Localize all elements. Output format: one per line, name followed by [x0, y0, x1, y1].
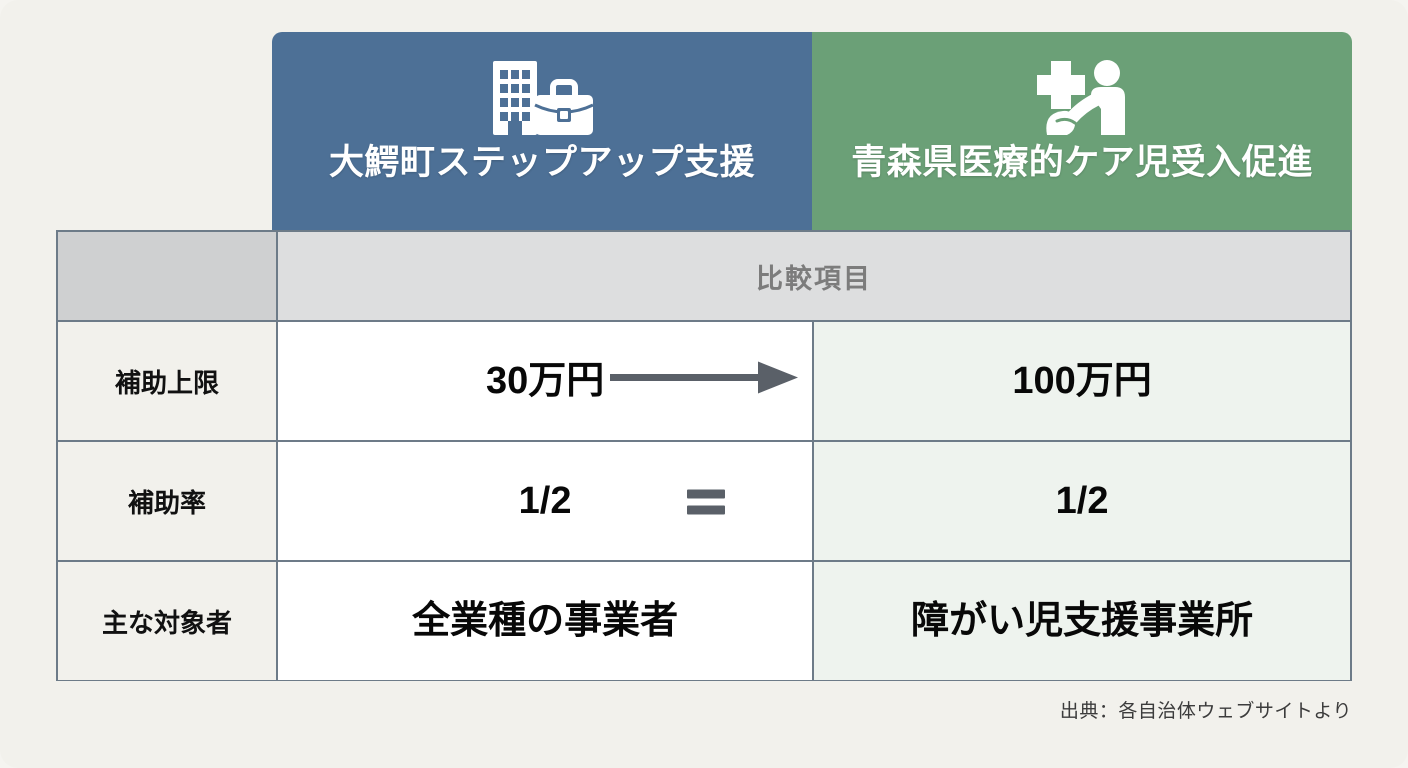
row-right-value: 100万円: [814, 322, 1350, 440]
row-right-value-text: 1/2: [1056, 482, 1109, 520]
table-row: 主な対象者 全業種の事業者 障がい児支援事業所: [58, 560, 1350, 680]
header-title-right: 青森県医療的ケア児受入促進: [851, 144, 1313, 183]
row-left-value: 30万円: [278, 322, 814, 440]
header-title-left: 大鰐町ステップアップ支援: [329, 144, 755, 183]
row-left-value: 1/2: [278, 442, 814, 560]
row-left-value-text: 1/2: [519, 482, 572, 520]
row-left-value-text: 30万円: [486, 362, 604, 400]
comparison-table: 比較項目 補助上限 30万円 100万円 補助率 1/2 1/2 主な対象者 全…: [56, 230, 1352, 681]
row-label: 補助上限: [58, 322, 278, 440]
header-card-right: 青森県医療的ケア児受入促進: [812, 32, 1352, 230]
table-row: 補助上限 30万円 100万円: [58, 320, 1350, 440]
comparison-infographic: 大鰐町ステップアップ支援 青森県医療的ケア児受入促進: [0, 0, 1408, 768]
row-right-value-text: 100万円: [1012, 362, 1151, 400]
row-right-value: 障がい児支援事業所: [814, 562, 1350, 680]
source-note: 出典：各自治体ウェブサイトより: [1060, 696, 1352, 723]
header-row: 大鰐町ステップアップ支援 青森県医療的ケア児受入促進: [272, 32, 1352, 230]
subhead-corner-cell: [58, 232, 278, 320]
header-card-left: 大鰐町ステップアップ支援: [272, 32, 812, 230]
row-label: 主な対象者: [58, 562, 278, 680]
row-right-value: 1/2: [814, 442, 1350, 560]
subhead-span-title: 比較項目: [278, 232, 1350, 320]
table-row: 補助率 1/2 1/2: [58, 440, 1350, 560]
row-left-value-text: 全業種の事業者: [412, 602, 678, 640]
table-subhead-row: 比較項目: [58, 232, 1350, 320]
building-briefcase-icon: [272, 58, 812, 138]
medical-care-person-icon: [812, 58, 1352, 138]
row-right-value-text: 障がい児支援事業所: [911, 602, 1253, 640]
row-left-value: 全業種の事業者: [278, 562, 814, 680]
row-label: 補助率: [58, 442, 278, 560]
